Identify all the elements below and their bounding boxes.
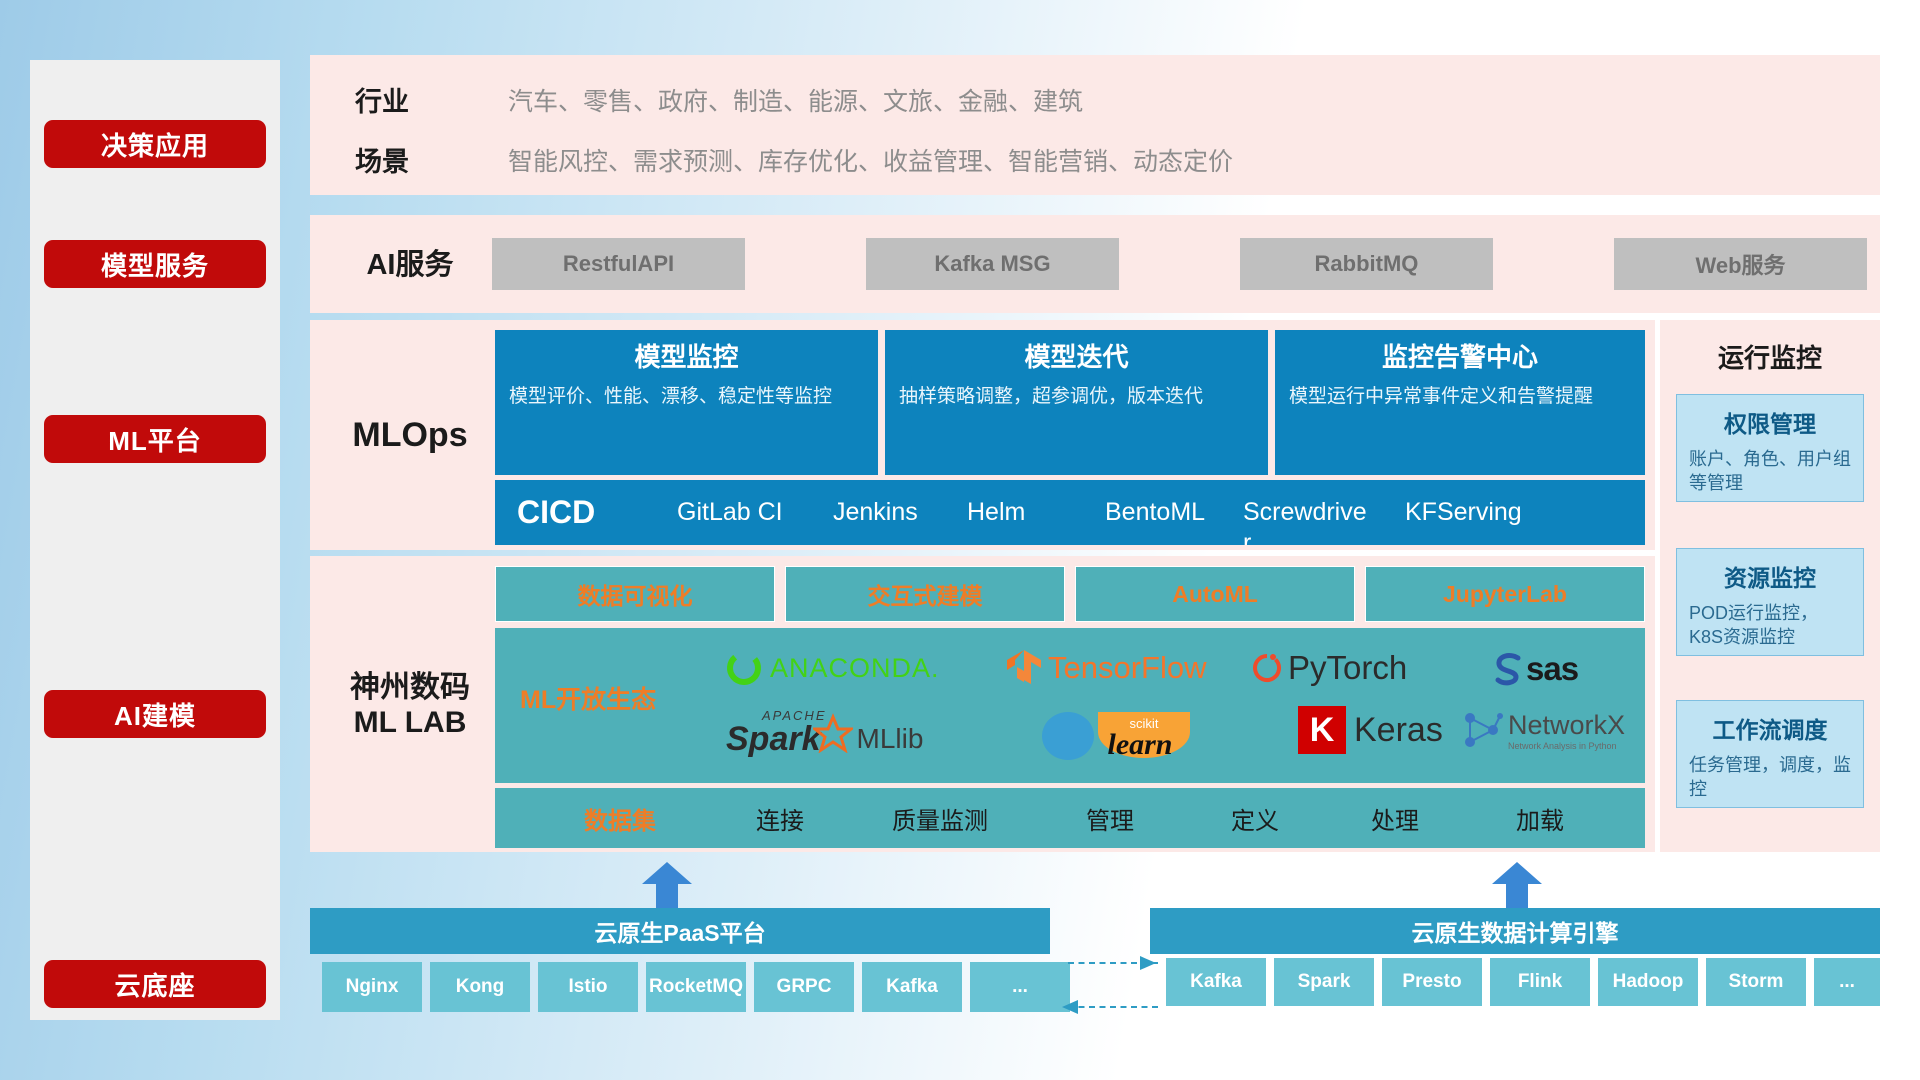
mlops-card-model-monitor[interactable]: 模型监控 模型评价、性能、漂移、稳定性等监控 [495, 330, 878, 475]
mlops-card-model-iteration[interactable]: 模型迭代 抽样策略调整，超参调优，版本迭代 [885, 330, 1268, 475]
tab-automl[interactable]: AutoML [1075, 566, 1355, 622]
card-desc: 模型运行中异常事件定义和告警提醒 [1289, 384, 1631, 409]
tab-data-visualization[interactable]: 数据可视化 [495, 566, 775, 622]
cicd-item-helm[interactable]: Helm [967, 497, 1093, 528]
compute-chip-presto[interactable]: Presto [1382, 958, 1482, 1006]
spark-wordmark: Spark [726, 720, 821, 759]
paas-chip-more[interactable]: ... [970, 962, 1070, 1012]
dataset-item-load[interactable]: 加载 [1480, 788, 1600, 848]
paas-chip-istio[interactable]: Istio [538, 962, 638, 1012]
sas-wordmark: sas [1526, 650, 1578, 688]
card-title: 模型监控 [495, 343, 878, 372]
compute-chip-spark[interactable]: Spark [1274, 958, 1374, 1006]
up-arrow-compute [1490, 862, 1544, 908]
anaconda-mark [724, 648, 764, 688]
dashed-arrow-head-left [1058, 998, 1078, 1016]
card-desc: 账户、角色、用户组等管理 [1689, 447, 1851, 495]
ml-ecosystem-title: ML开放生态 [520, 668, 740, 728]
card-desc: POD运行监控，K8S资源监控 [1689, 601, 1851, 649]
pytorch-mark [1250, 648, 1284, 688]
cicd-item-gitlab-ci[interactable]: GitLab CI [677, 497, 803, 528]
keras-mark-letter: K [1310, 711, 1335, 750]
compute-chip-hadoop[interactable]: Hadoop [1598, 958, 1698, 1006]
monitor-column-title: 运行监控 [1660, 338, 1880, 375]
card-desc: 抽样策略调整，超参调优，版本迭代 [899, 384, 1254, 409]
tensorflow-mark [1005, 648, 1043, 688]
card-title: 监控告警中心 [1275, 343, 1645, 372]
networkx-mark [1460, 708, 1504, 752]
chip-rabbitmq[interactable]: RabbitMQ [1240, 238, 1493, 290]
rail-item-model-service[interactable]: 模型服务 [44, 240, 266, 288]
mlops-label: MLOps [325, 405, 495, 465]
apache-spark-mllib-logo: APACHE Spark MLlib [726, 712, 923, 759]
rail-item-ml-platform[interactable]: ML平台 [44, 415, 266, 463]
paas-chip-kafka[interactable]: Kafka [862, 962, 962, 1012]
monitor-card-permission[interactable]: 权限管理 账户、角色、用户组等管理 [1676, 394, 1864, 502]
mllab-label-line1: 神州数码 [350, 670, 470, 705]
cicd-strip: CICD GitLab CI Jenkins Helm BentoML Scre… [495, 480, 1645, 545]
compute-chip-more[interactable]: ... [1814, 958, 1880, 1006]
rail-item-cloud-base[interactable]: 云底座 [44, 960, 266, 1008]
industry-value: 汽车、零售、政府、制造、能源、文旅、金融、建筑 [508, 82, 1083, 118]
scenario-value: 智能风控、需求预测、库存优化、收益管理、智能营销、动态定价 [508, 142, 1233, 178]
paas-chip-grpc[interactable]: GRPC [754, 962, 854, 1012]
mllab-label: 神州数码 ML LAB [320, 665, 500, 745]
cicd-label: CICD [517, 494, 595, 531]
monitor-card-workflow[interactable]: 工作流调度 任务管理，调度，监控 [1676, 700, 1864, 808]
compute-chip-storm[interactable]: Storm [1706, 958, 1806, 1006]
compute-chip-kafka[interactable]: Kafka [1166, 958, 1266, 1006]
keras-wordmark: Keras [1354, 711, 1443, 750]
paas-chip-kong[interactable]: Kong [430, 962, 530, 1012]
rail-item-ai-modeling[interactable]: AI建模 [44, 690, 266, 738]
anaconda-logo: ANACONDA. [724, 648, 940, 688]
card-desc: 任务管理，调度，监控 [1689, 753, 1851, 801]
chip-kafka-msg[interactable]: Kafka MSG [866, 238, 1119, 290]
monitor-card-resource[interactable]: 资源监控 POD运行监控，K8S资源监控 [1676, 548, 1864, 656]
spark-apache-word: APACHE [762, 708, 827, 723]
scenario-label: 场景 [355, 140, 409, 179]
tab-interactive-modeling[interactable]: 交互式建模 [785, 566, 1065, 622]
svg-text:learn: learn [1107, 728, 1172, 761]
cicd-item-bentoml[interactable]: BentoML [1105, 497, 1231, 528]
networkx-wordmark: NetworkX [1508, 710, 1625, 741]
compute-engine-bar: 云原生数据计算引擎 [1150, 908, 1880, 954]
dataset-item-define[interactable]: 定义 [1195, 788, 1315, 848]
anaconda-wordmark: ANACONDA. [770, 653, 940, 684]
dashed-connector-left [1068, 1006, 1158, 1008]
dataset-label: 数据集 [550, 788, 690, 848]
pytorch-wordmark: PyTorch [1288, 649, 1407, 687]
up-arrow-paas [640, 862, 694, 908]
scikit-learn-logo: scikit learn [1040, 706, 1200, 762]
dataset-item-manage[interactable]: 管理 [1050, 788, 1170, 848]
sas-mark [1490, 650, 1526, 688]
keras-mark: K [1298, 706, 1346, 754]
rail-item-decision-app[interactable]: 决策应用 [44, 120, 266, 168]
ai-service-label: AI服务 [330, 240, 490, 290]
chip-web-service[interactable]: Web服务 [1614, 238, 1867, 290]
cicd-item-kfserving[interactable]: KFServing [1405, 497, 1531, 528]
dashed-arrow-head-right [1140, 954, 1160, 972]
networkx-tagline: Network Analysis in Python [1508, 741, 1625, 751]
paas-platform-bar: 云原生PaaS平台 [310, 908, 1050, 954]
dataset-item-process[interactable]: 处理 [1335, 788, 1455, 848]
compute-chip-flink[interactable]: Flink [1490, 958, 1590, 1006]
cicd-item-screwdriver-label[interactable]: Screwdriver [1243, 497, 1369, 545]
mllab-label-line2: ML LAB [354, 705, 467, 740]
left-rail: 决策应用 模型服务 ML平台 AI建模 云底座 [30, 60, 280, 1020]
mlops-card-alert-center[interactable]: 监控告警中心 模型运行中异常事件定义和告警提醒 [1275, 330, 1645, 475]
keras-logo: K Keras [1298, 706, 1443, 754]
dataset-item-connect[interactable]: 连接 [720, 788, 840, 848]
tensorflow-wordmark: TensorFlow [1048, 650, 1207, 686]
card-title: 模型迭代 [885, 343, 1268, 372]
paas-chip-rocketmq[interactable]: RocketMQ [646, 962, 746, 1012]
tab-jupyterlab[interactable]: JupyterLab [1365, 566, 1645, 622]
dataset-item-quality[interactable]: 质量监测 [860, 788, 1020, 848]
card-desc: 模型评价、性能、漂移、稳定性等监控 [509, 384, 864, 409]
paas-chip-nginx[interactable]: Nginx [322, 962, 422, 1012]
card-title: 权限管理 [1677, 405, 1863, 439]
pytorch-logo: PyTorch [1250, 648, 1407, 688]
tensorflow-logo: TensorFlow [1005, 648, 1207, 688]
card-title: 资源监控 [1677, 559, 1863, 593]
cicd-item-jenkins[interactable]: Jenkins [833, 497, 959, 528]
card-title: 工作流调度 [1677, 711, 1863, 745]
industry-label: 行业 [355, 80, 409, 119]
scikit-learn-mark: scikit learn [1040, 706, 1200, 762]
mllib-wordmark: MLlib [857, 723, 924, 755]
networkx-logo: NetworkX Network Analysis in Python [1460, 708, 1625, 752]
chip-restful-api[interactable]: RestfulAPI [492, 238, 745, 290]
sas-logo: sas [1490, 650, 1578, 688]
